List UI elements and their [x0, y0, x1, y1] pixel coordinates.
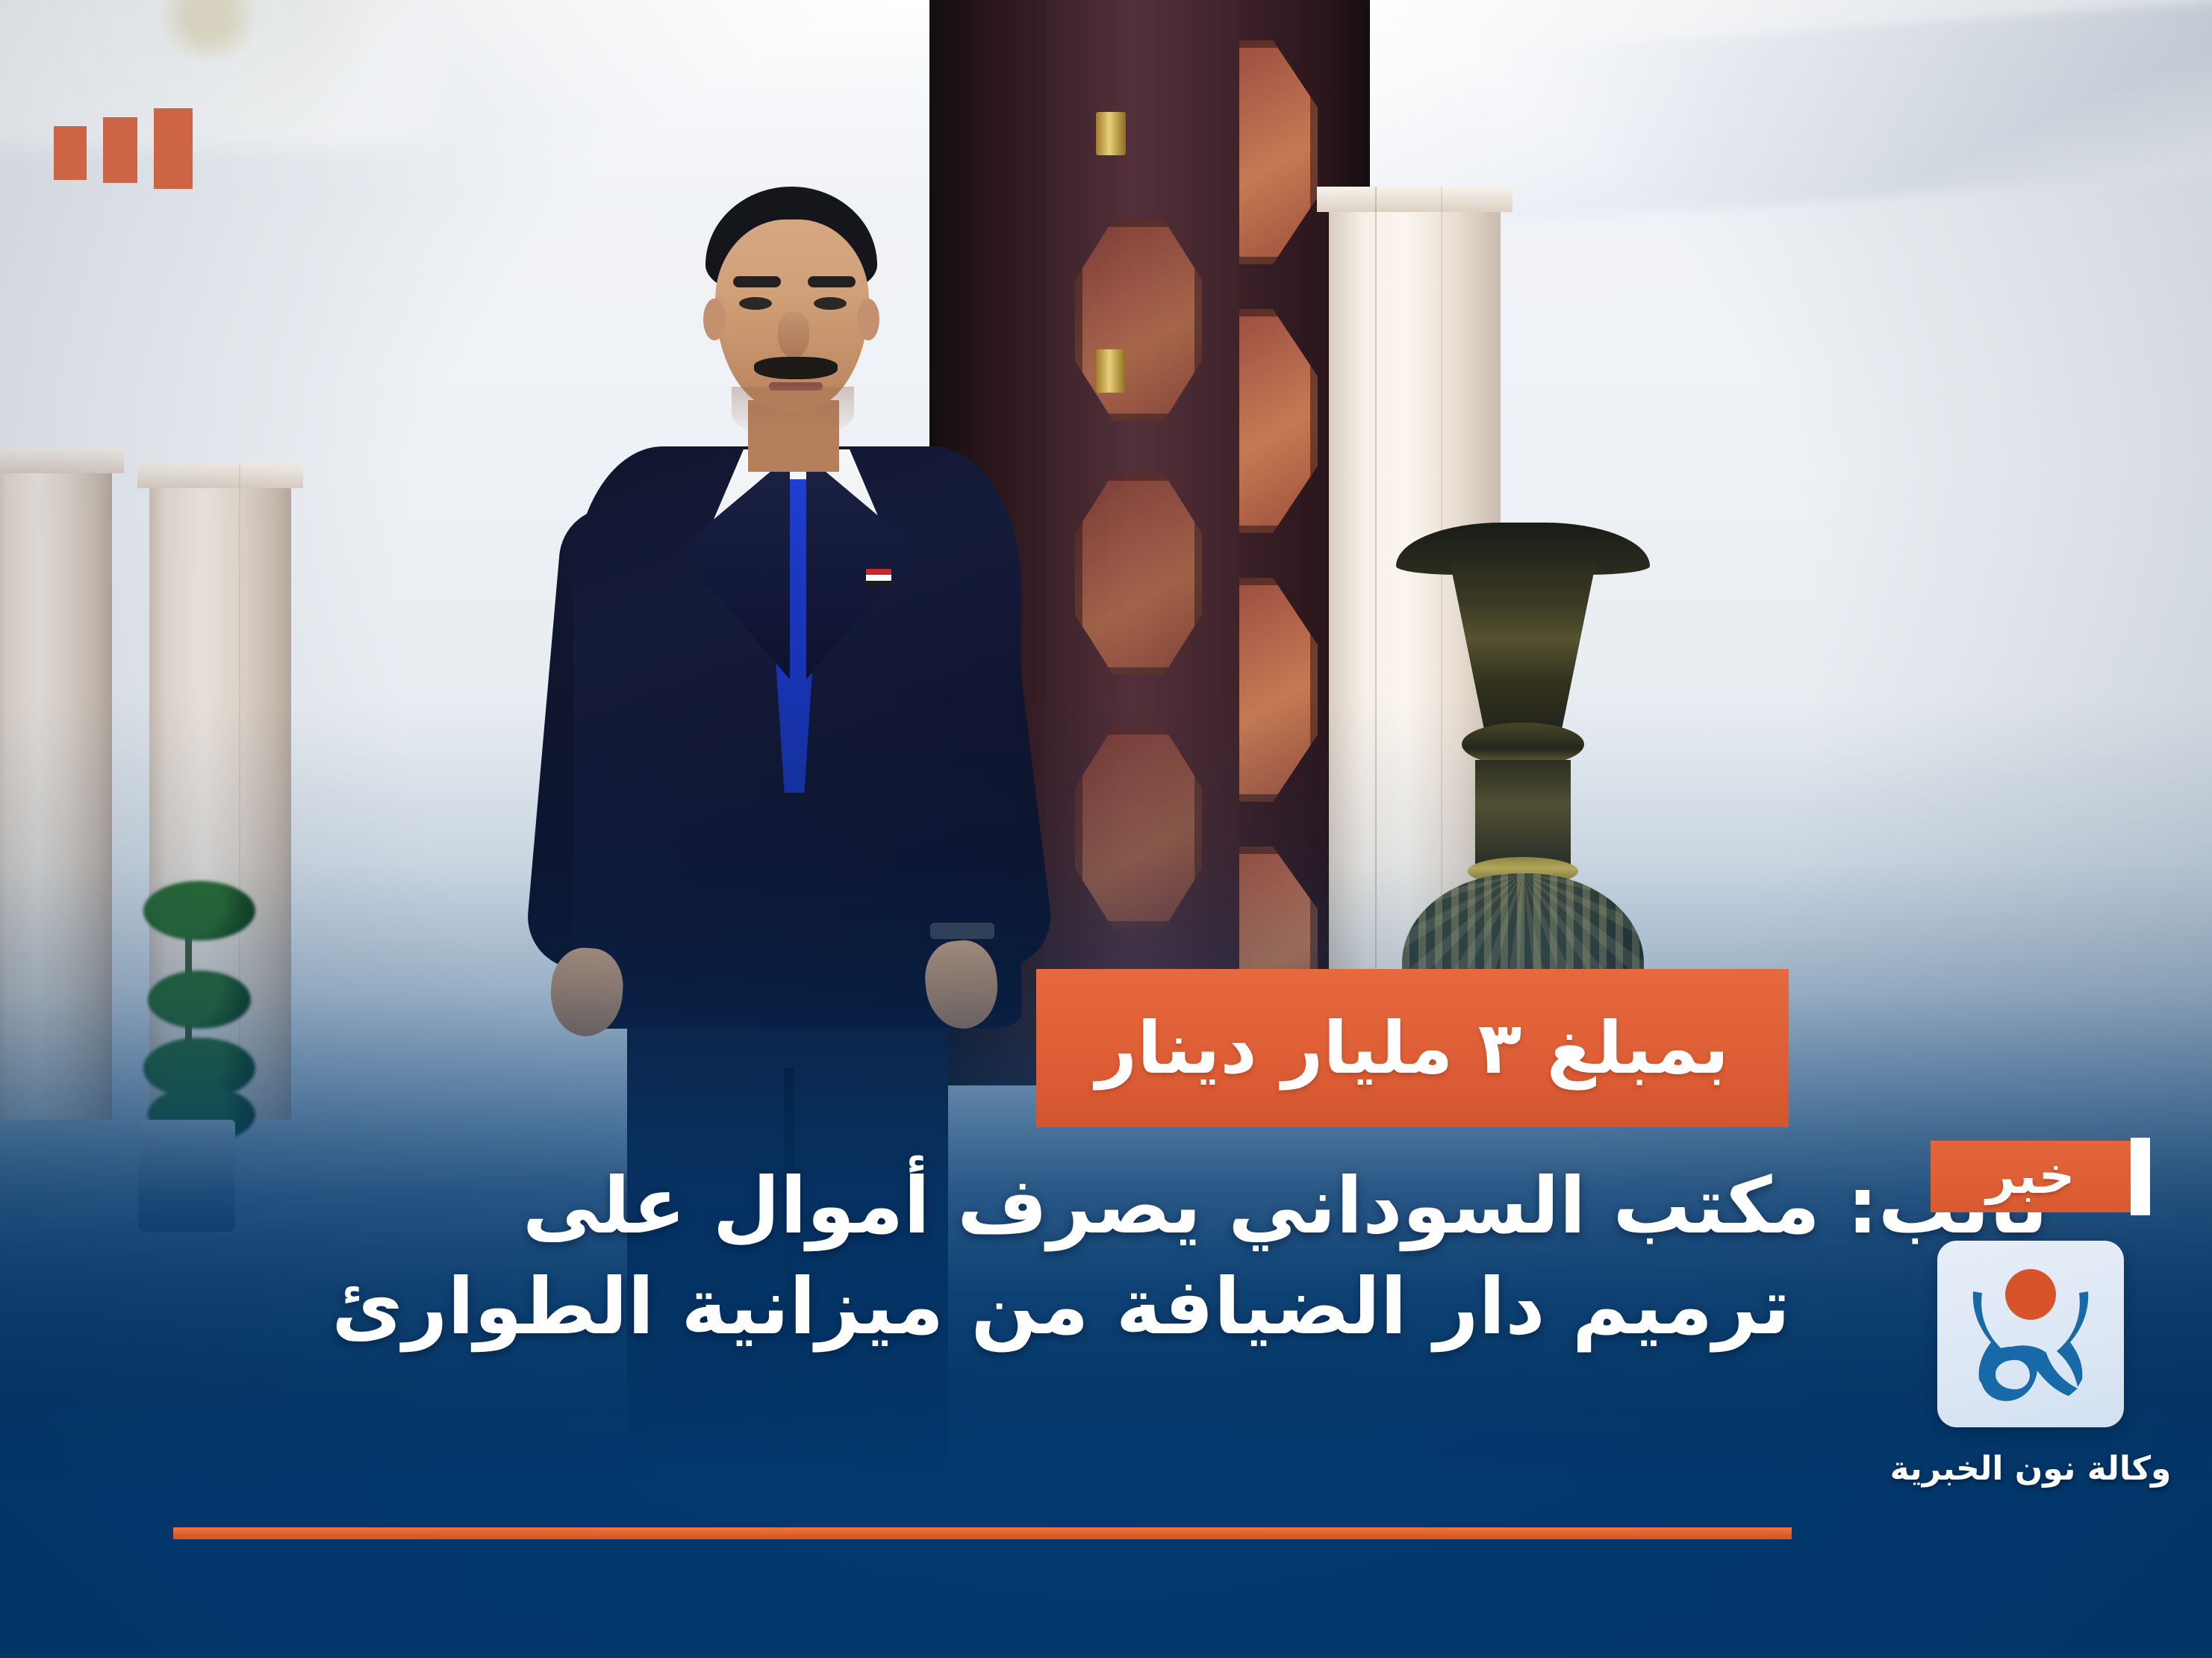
status-badge: خبر	[1931, 1141, 2131, 1212]
agency-name: وكالة نون الخبرية	[1881, 1453, 2180, 1486]
brand-logo-block: خبر وكالة نون الخبرية	[1881, 1141, 2180, 1486]
headline-line-1: نائب: مكتب السوداني يصرف أموال على	[159, 1156, 2048, 1256]
divider-rule	[173, 1527, 1792, 1539]
three-descending-bars-icon	[54, 108, 193, 189]
news-card: بمبلغ ٣ مليار دينار نائب: مكتب السوداني …	[0, 0, 2212, 1658]
brand-bar-3	[54, 126, 87, 180]
kicker-text: بمبلغ ٣ مليار دينار	[1096, 1012, 1729, 1084]
page-title: نائب: مكتب السوداني يصرف أموال على ترميم…	[159, 1156, 1790, 1357]
noon-agency-logo-icon	[1937, 1241, 2124, 1427]
status-badge-label: خبر	[1986, 1151, 2075, 1202]
hero-photo	[0, 0, 2212, 1658]
headline-line-2: ترميم دار الضيافة من ميزانية الطوارئ	[159, 1256, 1790, 1357]
brand-bar-1	[154, 108, 193, 189]
kicker-badge: بمبلغ ٣ مليار دينار	[1036, 969, 1789, 1127]
vignette-overlay	[0, 0, 2212, 1658]
brand-bar-2	[103, 117, 137, 183]
badge-tick-mark	[2131, 1138, 2150, 1215]
